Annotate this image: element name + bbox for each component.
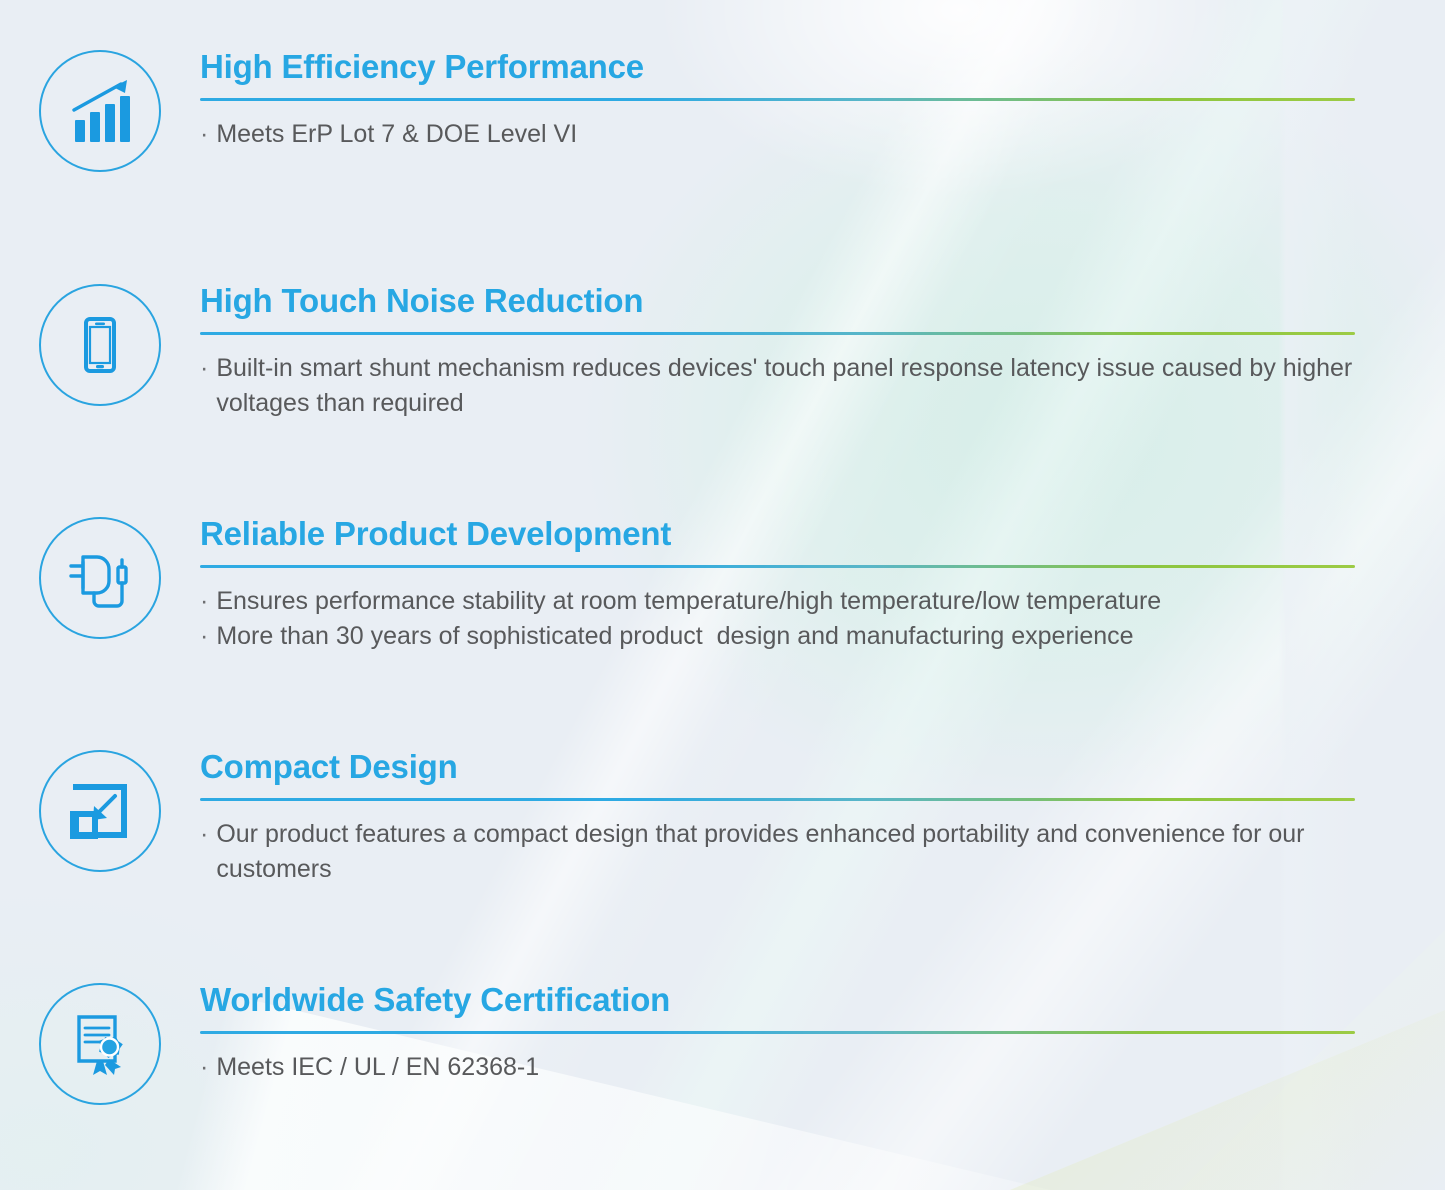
feature-bullet-text: Ensures performance stability at room te…	[216, 584, 1366, 620]
bullet-marker: ·	[200, 619, 208, 655]
feature-item-high-touch-noise-reduction: High Touch Noise Reduction · Built-in sm…	[0, 284, 1445, 422]
feature-icon-wrap	[0, 284, 200, 406]
feature-body: High Efficiency Performance · Meets ErP …	[200, 50, 1445, 152]
bullet-marker: ·	[200, 351, 208, 387]
feature-body: Compact Design · Our product features a …	[200, 750, 1445, 888]
feature-divider	[200, 1031, 1355, 1034]
power-adapter-icon	[39, 517, 161, 639]
feature-bullet-text: Meets ErP Lot 7 & DOE Level VI	[216, 117, 1366, 153]
feature-title: Compact Design	[200, 750, 1445, 785]
feature-body: Worldwide Safety Certification · Meets I…	[200, 983, 1445, 1085]
feature-bullet-text: Our product features a compact design th…	[216, 817, 1366, 888]
smartphone-icon	[39, 284, 161, 406]
feature-divider	[200, 332, 1355, 335]
compact-resize-icon	[39, 750, 161, 872]
feature-bullet-list: · Built-in smart shunt mechanism reduces…	[200, 351, 1445, 422]
feature-body: High Touch Noise Reduction · Built-in sm…	[200, 284, 1445, 422]
bullet-marker: ·	[200, 584, 208, 620]
feature-divider	[200, 565, 1355, 568]
feature-item-compact-design: Compact Design · Our product features a …	[0, 750, 1445, 888]
feature-bullet: · Meets IEC / UL / EN 62368-1	[200, 1050, 1445, 1086]
feature-bullet: · Ensures performance stability at room …	[200, 584, 1445, 620]
feature-bullet-list: · Meets IEC / UL / EN 62368-1	[200, 1050, 1445, 1086]
feature-highlights-page: High Efficiency Performance · Meets ErP …	[0, 0, 1445, 1190]
feature-bullet-text: More than 30 years of sophisticated prod…	[216, 619, 1366, 655]
feature-item-high-efficiency-performance: High Efficiency Performance · Meets ErP …	[0, 50, 1445, 172]
bullet-marker: ·	[200, 817, 208, 853]
feature-icon-wrap	[0, 983, 200, 1105]
feature-bullet: · Meets ErP Lot 7 & DOE Level VI	[200, 117, 1445, 153]
feature-item-worldwide-safety-certification: Worldwide Safety Certification · Meets I…	[0, 983, 1445, 1105]
feature-icon-wrap	[0, 517, 200, 639]
feature-item-reliable-product-development: Reliable Product Development · Ensures p…	[0, 517, 1445, 655]
feature-icon-wrap	[0, 50, 200, 172]
certificate-seal-icon	[39, 983, 161, 1105]
feature-divider	[200, 98, 1355, 101]
feature-bullet-list: · Meets ErP Lot 7 & DOE Level VI	[200, 117, 1445, 153]
feature-bullet-list: · Our product features a compact design …	[200, 817, 1445, 888]
feature-bullet: · Our product features a compact design …	[200, 817, 1445, 888]
feature-title: High Efficiency Performance	[200, 50, 1445, 85]
feature-title: High Touch Noise Reduction	[200, 284, 1445, 319]
feature-bullet: · More than 30 years of sophisticated pr…	[200, 619, 1445, 655]
bullet-marker: ·	[200, 1050, 208, 1086]
feature-icon-wrap	[0, 750, 200, 872]
feature-title: Worldwide Safety Certification	[200, 983, 1445, 1018]
feature-body: Reliable Product Development · Ensures p…	[200, 517, 1445, 655]
feature-bullet-text: Built-in smart shunt mechanism reduces d…	[216, 351, 1366, 422]
feature-divider	[200, 798, 1355, 801]
bar-chart-growth-icon	[39, 50, 161, 172]
feature-bullet: · Built-in smart shunt mechanism reduces…	[200, 351, 1445, 422]
feature-title: Reliable Product Development	[200, 517, 1445, 552]
feature-bullet-text: Meets IEC / UL / EN 62368-1	[216, 1050, 1366, 1086]
feature-bullet-list: · Ensures performance stability at room …	[200, 584, 1445, 655]
bullet-marker: ·	[200, 117, 208, 153]
